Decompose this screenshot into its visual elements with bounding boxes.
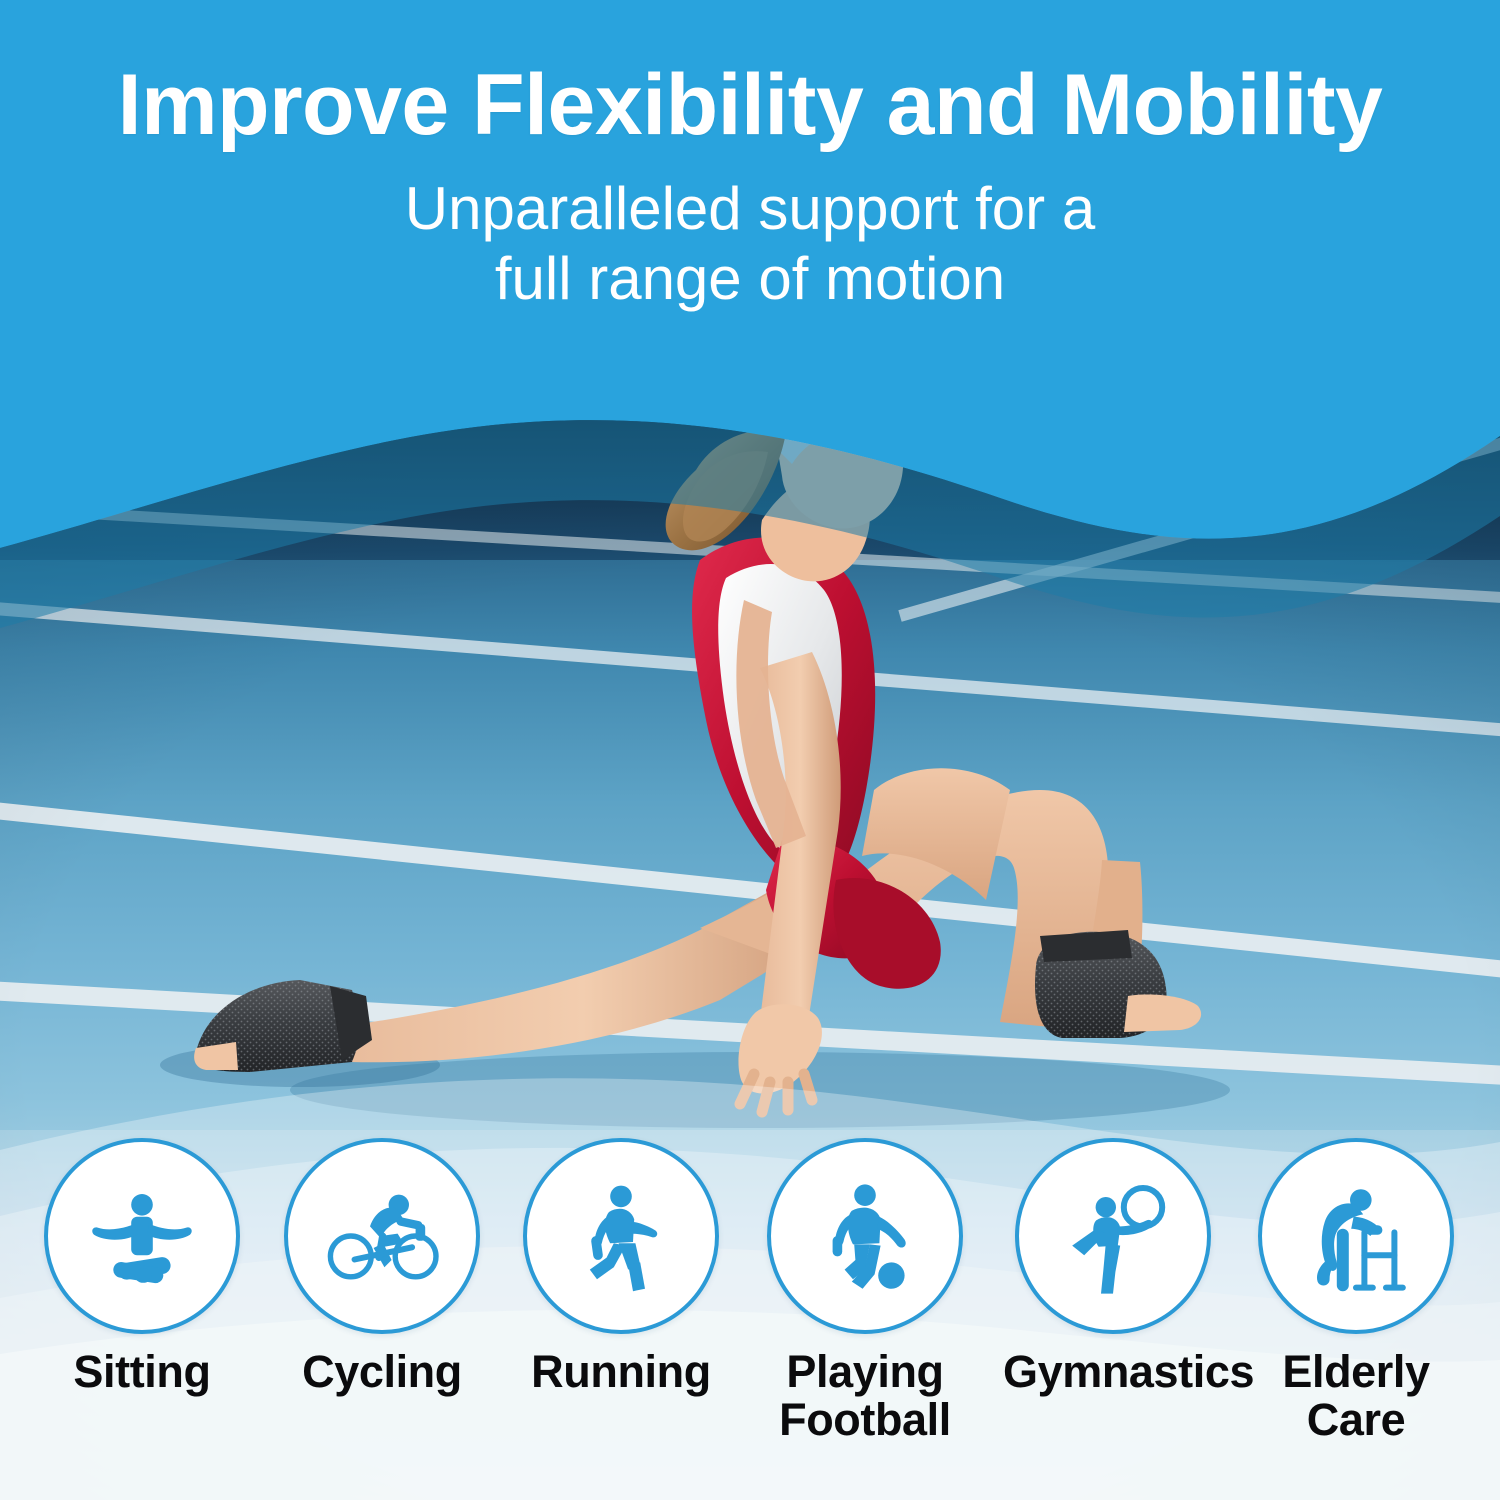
page-title: Improve Flexibility and Mobility (0, 62, 1500, 148)
use-case-icon-elderly-care[interactable] (1258, 1138, 1454, 1334)
cycling-icon (322, 1176, 442, 1296)
label-line-2: Football (779, 1394, 951, 1445)
page-subtitle: Unparalleled support for a full range of… (0, 174, 1500, 313)
use-case-label-playing-football: Playing Football (765, 1348, 965, 1444)
subtitle-line-1: Unparalleled support for a (405, 175, 1095, 242)
label-line-1: Elderly (1282, 1346, 1429, 1397)
label-line-1: Sitting (73, 1346, 210, 1397)
use-case-icon-running[interactable] (523, 1138, 719, 1334)
subtitle-line-2: full range of motion (495, 245, 1005, 312)
sitting-lotus-icon (82, 1176, 202, 1296)
label-line-1: Running (531, 1346, 711, 1397)
use-case-icon-row (0, 1138, 1500, 1344)
header-text-block: Improve Flexibility and Mobility Unparal… (0, 0, 1500, 313)
use-case-icon-playing-football[interactable] (767, 1138, 963, 1334)
use-case-label-gymnastics: Gymnastics (1003, 1348, 1223, 1396)
label-line-1: Gymnastics (1003, 1346, 1254, 1397)
label-line-2: Care (1307, 1394, 1405, 1445)
label-line-1: Playing (786, 1346, 943, 1397)
compression-sock-right (1035, 930, 1201, 1038)
football-player-icon (805, 1176, 925, 1296)
use-case-label-cycling: Cycling (282, 1348, 482, 1396)
use-case-icon-cycling[interactable] (284, 1138, 480, 1334)
use-case-label-running: Running (521, 1348, 721, 1396)
use-case-label-row: Sitting Cycling Running Playing Football… (0, 1348, 1500, 1498)
use-case-icon-sitting[interactable] (44, 1138, 240, 1334)
gymnastics-icon (1053, 1176, 1173, 1296)
use-case-icon-gymnastics[interactable] (1015, 1138, 1211, 1334)
elderly-walker-icon (1296, 1176, 1416, 1296)
use-case-label-elderly-care: Elderly Care (1256, 1348, 1456, 1444)
use-case-label-sitting: Sitting (42, 1348, 242, 1396)
running-icon (561, 1176, 681, 1296)
label-line-1: Cycling (302, 1346, 462, 1397)
product-feature-banner: Improve Flexibility and Mobility Unparal… (0, 0, 1500, 1500)
